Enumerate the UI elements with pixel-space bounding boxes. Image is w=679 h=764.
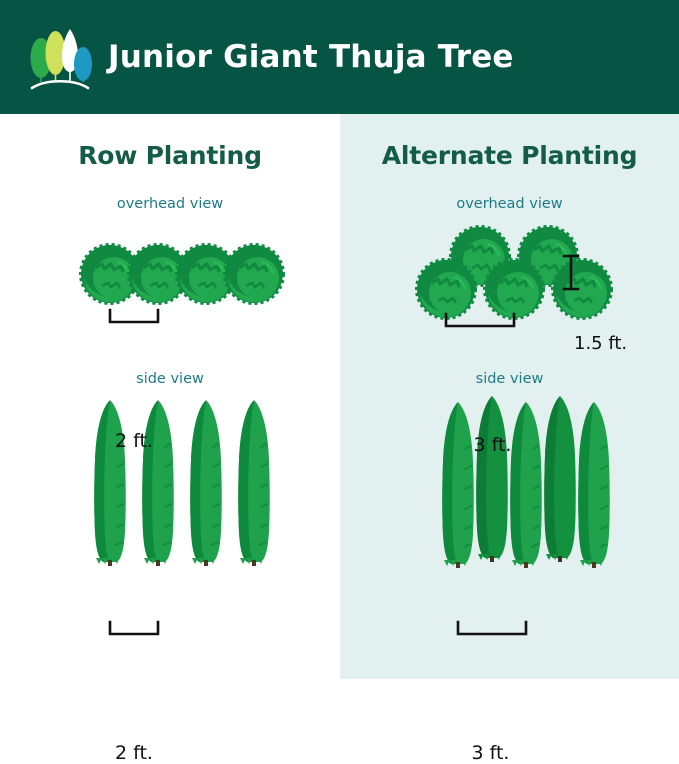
side-spacing-label-right: 3 ft.: [321, 742, 660, 764]
overhead-spacing-label-right: 3 ft.: [323, 434, 662, 456]
row-offset-label-right: 1.5 ft.: [574, 333, 627, 354]
overhead-spacing-bracket-left: [110, 310, 158, 322]
side-view-label-left: side view: [0, 371, 340, 387]
comparison-panels: Row Planting overhead view side view: [0, 114, 679, 679]
side-tree-group-left: [94, 400, 270, 566]
page-title: Junior Giant Thuja Tree: [108, 39, 514, 75]
panel-title-row-planting: Row Planting: [0, 141, 340, 170]
overhead-view-label-left: overhead view: [0, 196, 340, 212]
overhead-tree-group-left: [81, 245, 283, 303]
panel-row-planting: Row Planting overhead view side view: [0, 114, 340, 679]
panel-title-alternate-planting: Alternate Planting: [340, 141, 679, 170]
side-spacing-bracket-left: [110, 622, 158, 634]
header-bar: Junior Giant Thuja Tree: [0, 0, 679, 114]
overhead-tree-group-right: [417, 227, 611, 318]
panel-alternate-planting: Alternate Planting overhead view side vi…: [340, 114, 679, 679]
side-spacing-label-left: 2 ft.: [0, 742, 304, 764]
row-offset-marker-right: [564, 256, 578, 289]
side-spacing-bracket-right: [458, 622, 526, 634]
overhead-view-label-right: overhead view: [340, 196, 679, 212]
side-tree-group-right: [442, 396, 610, 568]
overhead-spacing-label-left: 2 ft.: [0, 430, 304, 452]
side-view-label-right: side view: [340, 371, 679, 387]
four-trees-logo-icon: [28, 22, 92, 92]
overhead-spacing-bracket-right: [446, 314, 514, 326]
infographic-root: Junior Giant Thuja Tree Row Planting ove…: [0, 0, 679, 679]
